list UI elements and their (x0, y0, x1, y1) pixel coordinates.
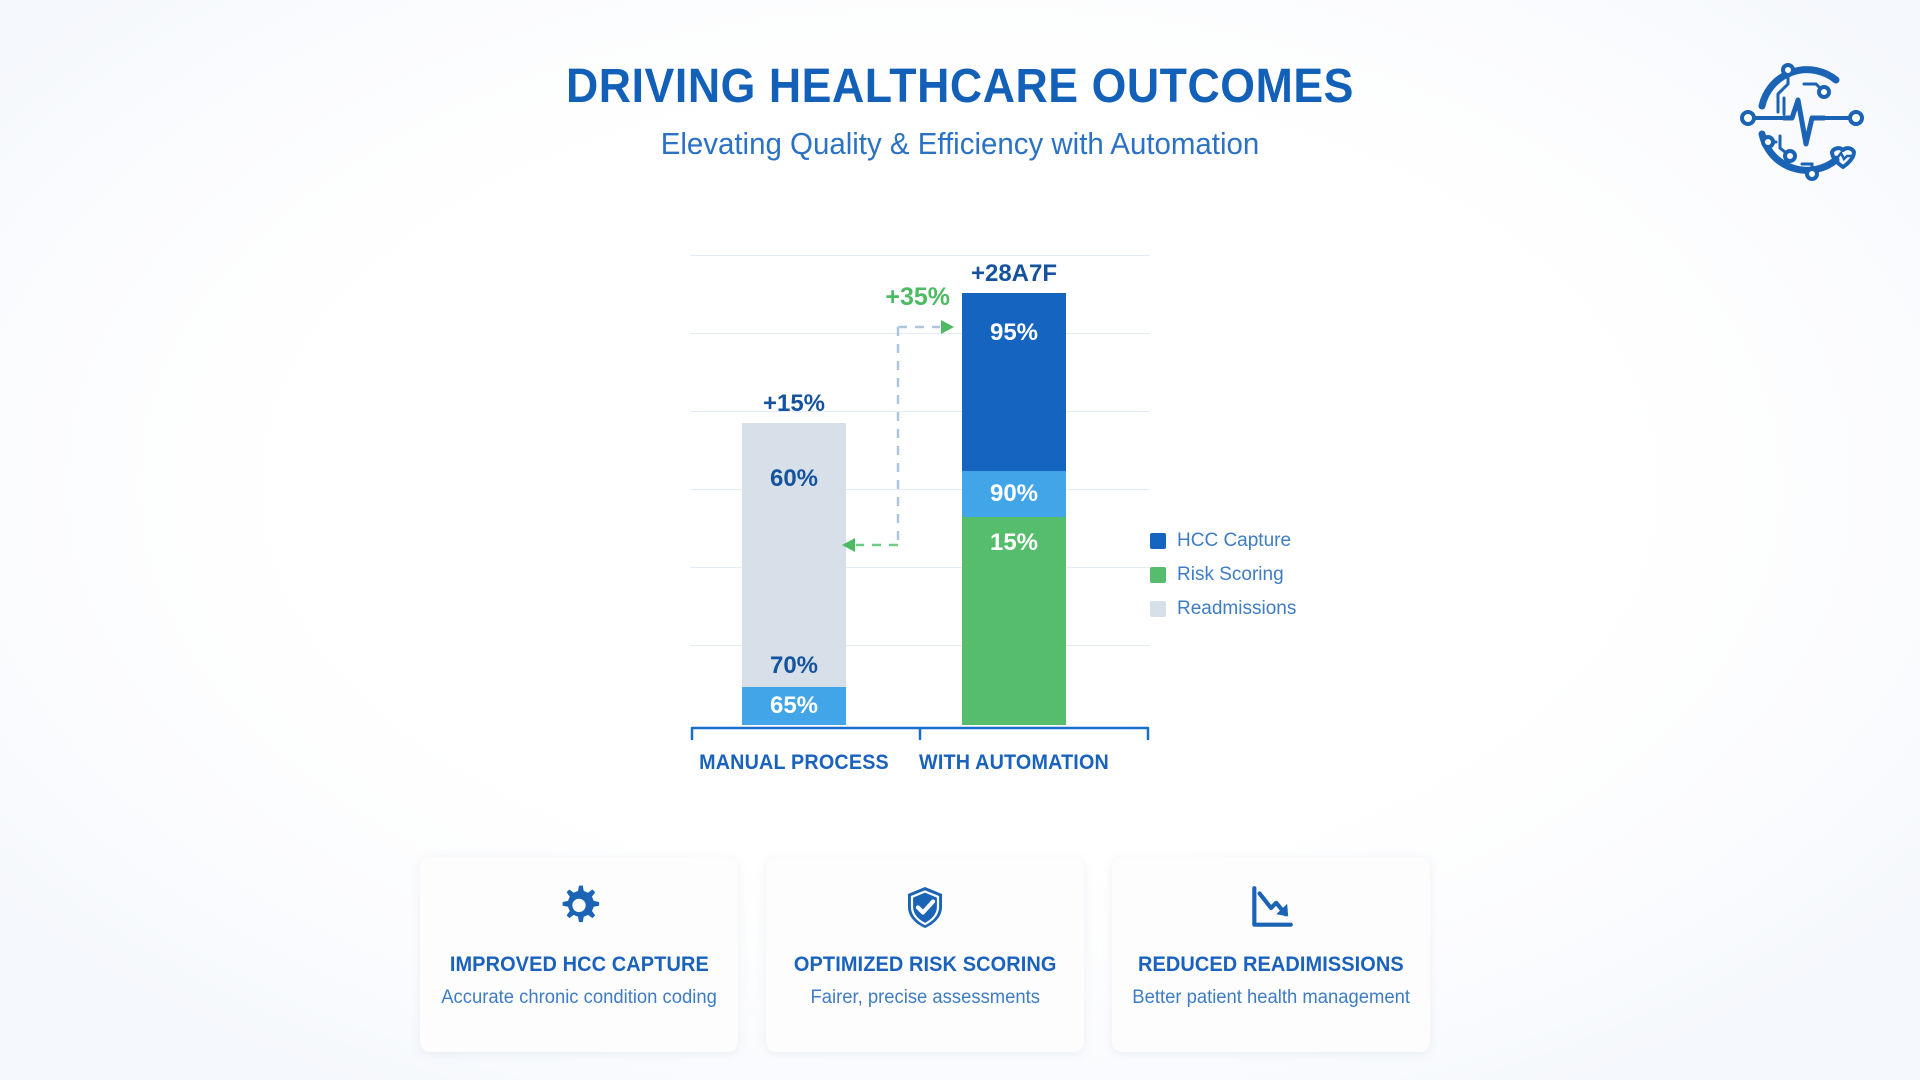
legend-label: HCC Capture (1177, 530, 1291, 552)
stacked-bar-chart: +15% 60% 70% 65% +28A7F (690, 255, 1170, 755)
segment-label: 70% (770, 652, 818, 680)
card-description: Accurate chronic condition coding (441, 987, 717, 1009)
legend-item-readmissions[interactable]: Readmissions (1150, 598, 1360, 620)
brand-logo (1732, 48, 1872, 188)
legend-item-risk-scoring[interactable]: Risk Scoring (1150, 564, 1360, 586)
x-axis-labels: MANUAL PROCESS WITH AUTOMATION (690, 751, 1150, 791)
slide-root: DRIVING HEALTHCARE OUTCOMES Elevating Qu… (0, 0, 1920, 1080)
segment-risk-band-manual[interactable]: 65% (742, 687, 846, 725)
shield-check-icon (896, 879, 954, 937)
chart-legend: HCC Capture Risk Scoring Readmissions (1150, 530, 1360, 632)
card-description: Better patient health management (1132, 987, 1410, 1009)
card-improved-hcc-capture[interactable]: IMPROVED HCC CAPTURE Accurate chronic co… (420, 857, 738, 1052)
segment-label: 65% (770, 692, 818, 720)
legend-item-hcc-capture[interactable]: HCC Capture (1150, 530, 1360, 552)
card-title: REDUCED READIMISSIONS (1138, 953, 1404, 977)
category-label-with-automation: WITH AUTOMATION (911, 751, 1118, 775)
segment-readmissions-upper[interactable]: 60% (742, 423, 846, 535)
delta-annotation: +35% (840, 255, 1000, 605)
card-reduced-readmissions[interactable]: REDUCED READIMISSIONS Better patient hea… (1112, 857, 1430, 1052)
card-description: Fairer, precise assessments (810, 987, 1039, 1009)
feature-cards: IMPROVED HCC CAPTURE Accurate chronic co… (420, 857, 1430, 1052)
legend-label: Readmissions (1177, 598, 1296, 620)
segment-readmissions-mid[interactable] (742, 535, 846, 645)
card-title: IMPROVED HCC CAPTURE (449, 953, 708, 977)
legend-swatch-risk-scoring (1150, 567, 1166, 583)
card-optimized-risk-scoring[interactable]: OPTIMIZED RISK SCORING Fairer, precise a… (766, 857, 1084, 1052)
legend-swatch-readmissions (1150, 601, 1166, 617)
header: DRIVING HEALTHCARE OUTCOMES Elevating Qu… (0, 62, 1920, 162)
category-label-manual-process: MANUAL PROCESS (691, 751, 898, 775)
segment-readmissions-lower[interactable]: 70% (742, 645, 846, 687)
card-title: OPTIMIZED RISK SCORING (794, 953, 1057, 977)
declining-chart-icon (1242, 879, 1300, 937)
x-axis-bracket (690, 725, 1150, 741)
plot-area: +15% 60% 70% 65% +28A7F (690, 255, 1150, 725)
bar-manual-process[interactable]: 60% 70% 65% (742, 423, 846, 725)
page-title: DRIVING HEALTHCARE OUTCOMES (67, 62, 1853, 112)
segment-label: 60% (770, 465, 818, 493)
legend-label: Risk Scoring (1177, 564, 1284, 586)
page-subtitle: Elevating Quality & Efficiency with Auto… (48, 126, 1872, 162)
legend-swatch-hcc-capture (1150, 533, 1166, 549)
gear-icon (550, 879, 608, 937)
